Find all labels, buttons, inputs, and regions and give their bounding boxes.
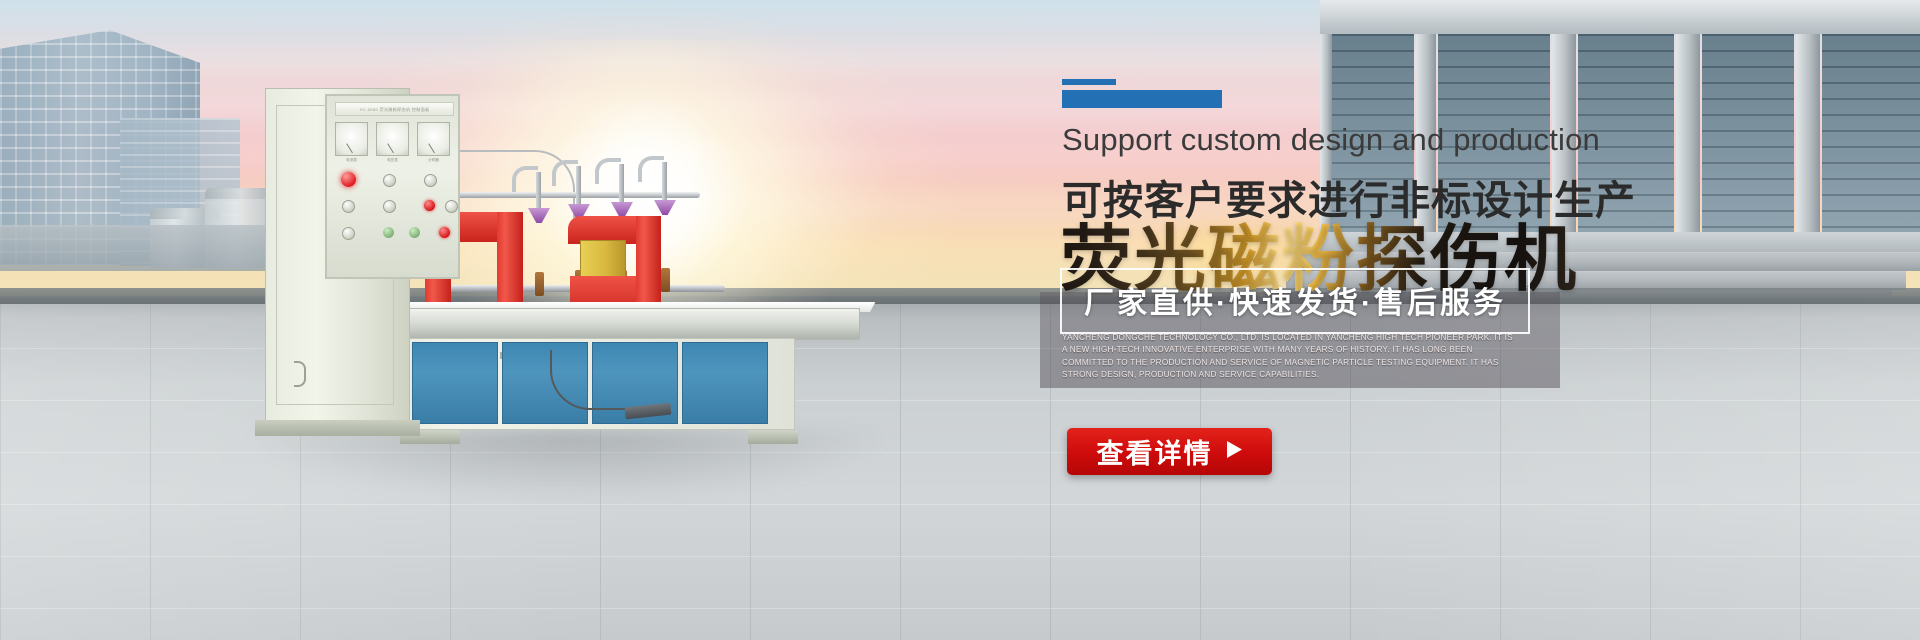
- machine-knob: [342, 227, 355, 240]
- machine-cabinet-base: [255, 420, 420, 436]
- machine-spray-cup: [611, 202, 633, 217]
- building-glass-panel: [1822, 34, 1920, 234]
- machine-gauge-ammeter: [335, 122, 368, 156]
- machine-indicator-led-green: [383, 227, 394, 238]
- view-details-label: 查看详情: [1097, 432, 1213, 471]
- machine-knob: [342, 200, 355, 213]
- machine-gauge-label: 电流表: [335, 158, 368, 163]
- machine-nozzle: [619, 164, 624, 208]
- machine-base-foot: [748, 430, 798, 444]
- machine-gauge-voltmeter: [376, 122, 409, 156]
- machine-cabinet-handle: [294, 361, 306, 387]
- machine-blue-panel: [682, 342, 768, 424]
- machine-nozzle-hook: [512, 166, 538, 192]
- product-image-magnetic-particle-inspection-machine: YC-2000 荧光磁粉探伤机 控制面板 电流表 电压表 计时器: [250, 80, 870, 450]
- view-details-button[interactable]: 查看详情: [1067, 428, 1272, 475]
- machine-knob: [383, 200, 396, 213]
- machine-indicator-led-red: [424, 200, 435, 211]
- machine-knob: [383, 174, 396, 187]
- machine-indicator-led-red: [439, 227, 450, 238]
- machine-indicator-led-red: [341, 172, 356, 187]
- machine-indicator-led-green: [409, 227, 420, 238]
- machine-panel-label: YC-2000 荧光磁粉探伤机 控制面板: [335, 102, 454, 116]
- machine-gauge-label: 电压表: [376, 158, 409, 163]
- machine-nozzle: [662, 162, 667, 206]
- building-column: [1796, 34, 1820, 252]
- machine-knob: [424, 174, 437, 187]
- machine-clamp: [535, 272, 544, 296]
- machine-clamp: [661, 268, 670, 292]
- machine-gauge-label: 计时器: [417, 158, 450, 163]
- play-triangle-icon: [1226, 440, 1243, 464]
- accent-bar-large: [1062, 90, 1222, 108]
- machine-nozzle-hook: [595, 158, 621, 184]
- machine-gauge-timer: [417, 122, 450, 156]
- machine-nozzle-hook: [638, 156, 664, 182]
- company-description-paragraph: YANCHENG DONGCHE TECHNOLOGY CO., LTD. IS…: [1062, 332, 1517, 382]
- machine-spray-cup: [654, 200, 676, 215]
- english-tagline: Support custom design and production: [1062, 122, 1600, 158]
- machine-nozzle: [576, 166, 581, 210]
- hero-text-panel: Support custom design and production 可按客…: [1062, 0, 1762, 640]
- feature-highlight-box: 厂家直供·快速发货·售后服务: [1060, 268, 1530, 334]
- accent-bar-small: [1062, 79, 1116, 85]
- machine-knob: [445, 200, 458, 213]
- machine-blue-panel: [412, 342, 498, 424]
- machine-nozzle-hook: [552, 160, 578, 186]
- machine-control-panel: YC-2000 荧光磁粉探伤机 控制面板 电流表 电压表 计时器: [325, 94, 460, 279]
- machine-bed: [400, 308, 860, 340]
- hero-banner: YC-2000 荧光磁粉探伤机 控制面板 电流表 电压表 计时器 Support…: [0, 0, 1920, 640]
